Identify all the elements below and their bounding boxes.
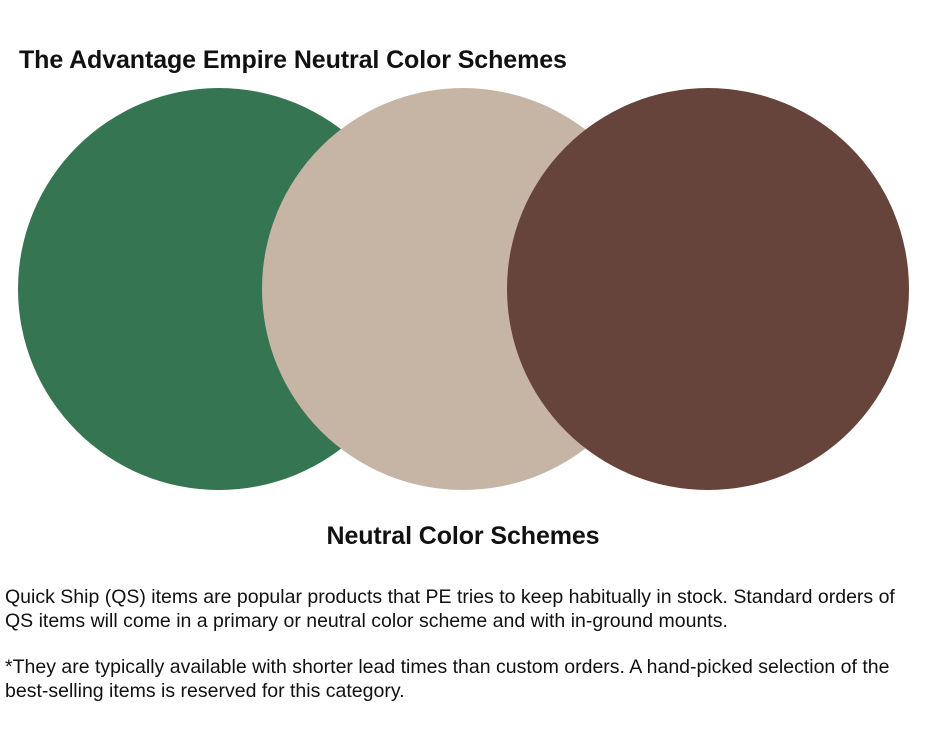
body-paragraph-2: *They are typically available with short… xyxy=(5,656,917,703)
body-copy: Quick Ship (QS) items are popular produc… xyxy=(5,586,917,703)
color-swatch-group xyxy=(0,0,926,505)
color-swatch-brown xyxy=(507,88,909,490)
swatch-group-caption: Neutral Color Schemes xyxy=(0,521,926,551)
body-paragraph-1: Quick Ship (QS) items are popular produc… xyxy=(5,586,917,633)
page-root: The Advantage Empire Neutral Color Schem… xyxy=(0,0,926,752)
